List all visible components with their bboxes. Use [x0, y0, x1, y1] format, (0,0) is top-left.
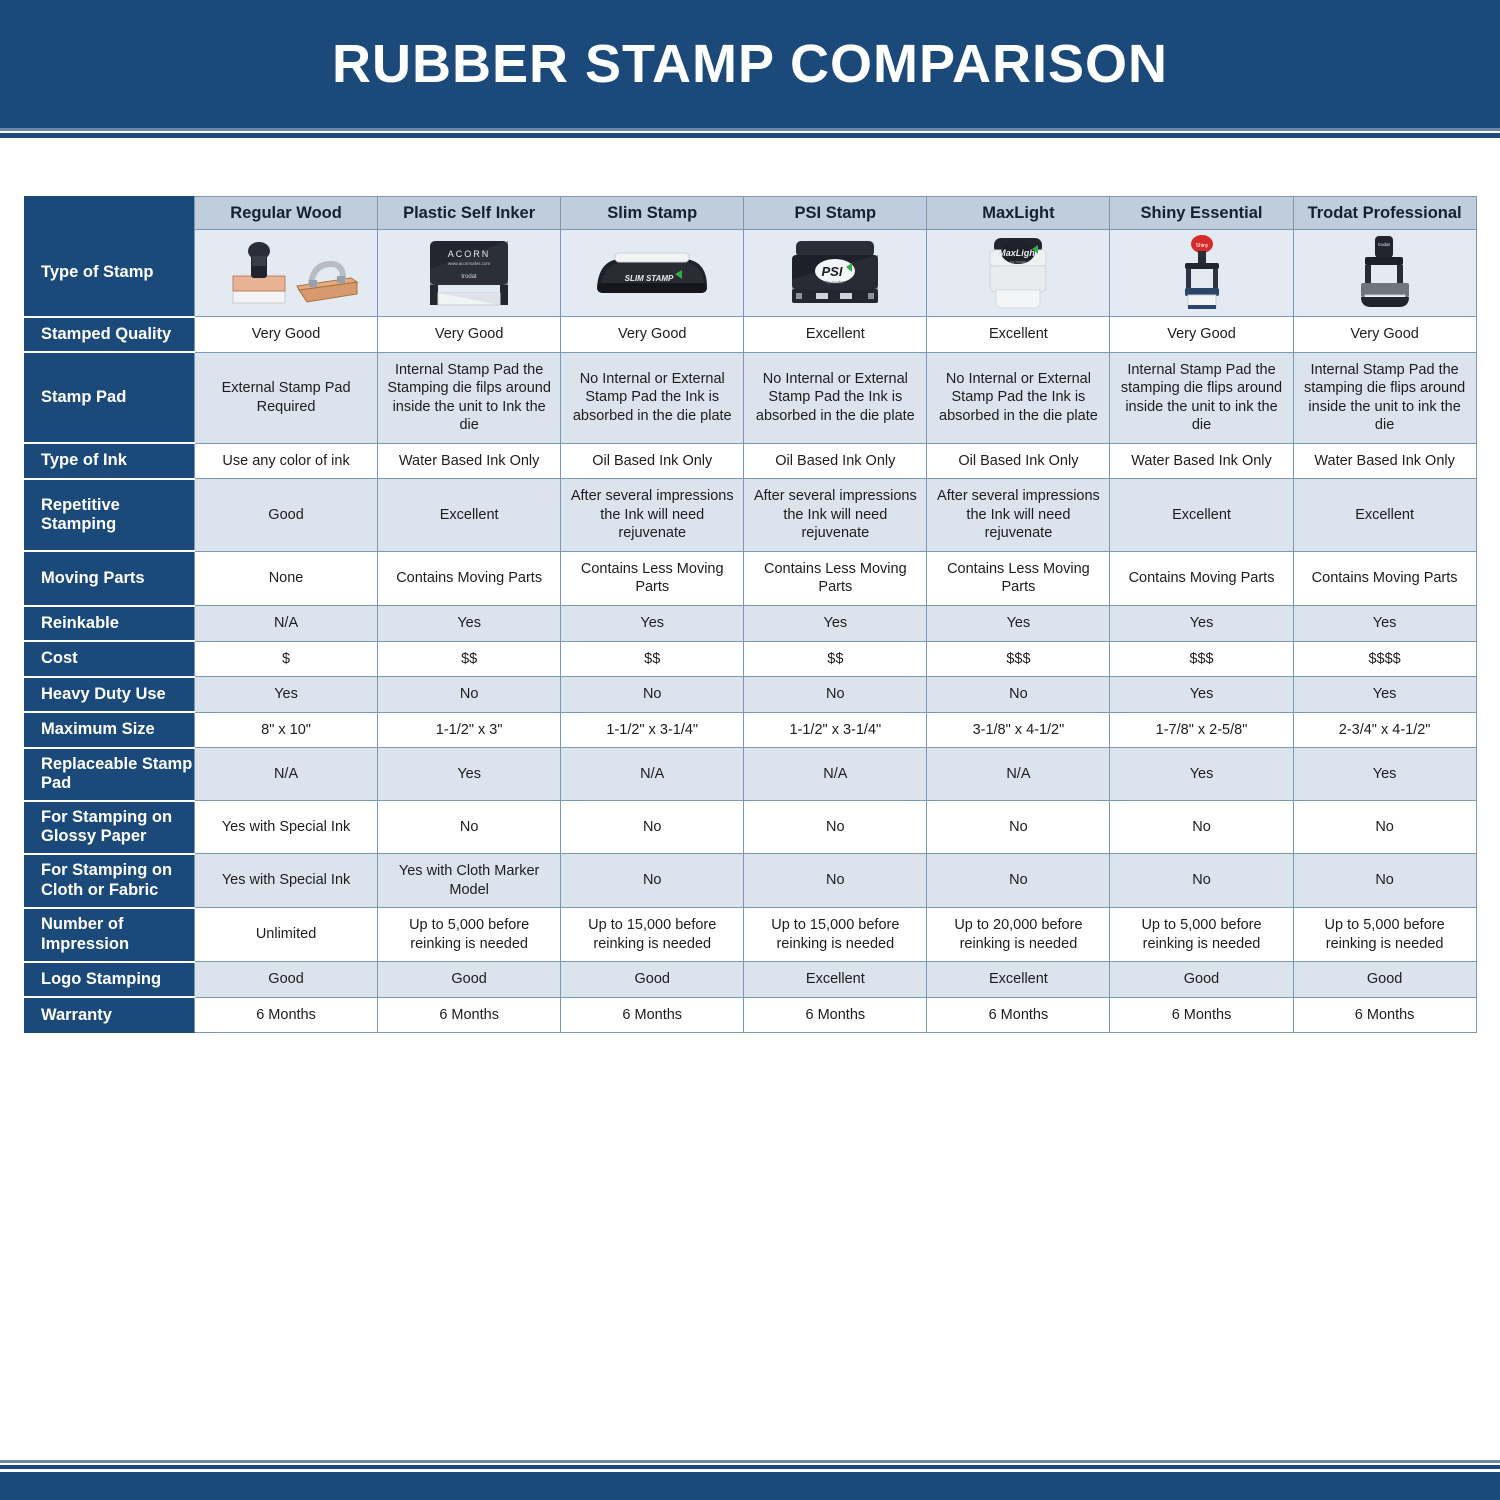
svg-text:by trodat: by trodat: [1011, 259, 1027, 264]
table-cell: Up to 20,000 before reinking is needed: [927, 908, 1110, 962]
table-row: Heavy Duty UseYesNoNoNoNoYesYes: [25, 677, 1477, 713]
header-divider-dark: [0, 133, 1500, 138]
table-row-type-of-stamp: Type of Stamp ACORN www.acornsales.com t…: [25, 230, 1477, 317]
psi-stamp-image: PSI by trodat: [782, 235, 888, 311]
row-label-heavy-duty-use: Heavy Duty Use: [25, 677, 195, 713]
table-cell: Contains Moving Parts: [1293, 551, 1476, 605]
table-cell: Oil Based Ink Only: [561, 443, 744, 479]
row-label-logo-stamping: Logo Stamping: [25, 962, 195, 998]
table-cell: No: [927, 801, 1110, 854]
table-row: Replaceable Stamp PadN/AYesN/AN/AN/AYesY…: [25, 748, 1477, 801]
table-cell: Water Based Ink Only: [1110, 443, 1293, 479]
column-header-2: Plastic Self Inker: [378, 197, 561, 230]
table-cell: No: [744, 854, 927, 908]
table-cell: $: [195, 641, 378, 677]
table-cell: Good: [561, 962, 744, 998]
table-cell: Good: [195, 962, 378, 998]
table-corner-cell: [25, 197, 195, 230]
table-cell: Contains Moving Parts: [378, 551, 561, 605]
table-cell: Water Based Ink Only: [1293, 443, 1476, 479]
table-cell: 6 Months: [561, 997, 744, 1033]
page-footer-banner: [0, 1472, 1500, 1500]
row-label-for-stamping-on-glossy-paper: For Stamping on Glossy Paper: [25, 801, 195, 854]
column-header-5: MaxLight: [927, 197, 1110, 230]
table-cell: Yes with Cloth Marker Model: [378, 854, 561, 908]
column-header-6: Shiny Essential: [1110, 197, 1293, 230]
table-cell: Yes: [195, 677, 378, 713]
table-cell: Yes: [378, 748, 561, 801]
table-cell: Internal Stamp Pad the Stamping die filp…: [378, 352, 561, 443]
table-cell: Contains Moving Parts: [1110, 551, 1293, 605]
table-row: Stamp PadExternal Stamp Pad RequiredInte…: [25, 352, 1477, 443]
table-cell: Up to 5,000 before reinking is needed: [378, 908, 561, 962]
table-cell: Excellent: [927, 962, 1110, 998]
table-cell: $$$$: [1293, 641, 1476, 677]
table-row: Stamped QualityVery GoodVery GoodVery Go…: [25, 317, 1477, 353]
table-row: ReinkableN/AYesYesYesYesYesYes: [25, 606, 1477, 642]
table-cell: 3-1/8" x 4-1/2": [927, 712, 1110, 748]
table-cell: 1-7/8" x 2-5/8": [1110, 712, 1293, 748]
table-cell: Good: [1110, 962, 1293, 998]
table-row: For Stamping on Glossy PaperYes with Spe…: [25, 801, 1477, 854]
svg-text:SLIM STAMP: SLIM STAMP: [625, 274, 674, 283]
table-cell: After several impressions the Ink will n…: [744, 479, 927, 552]
table-cell: Very Good: [378, 317, 561, 353]
table-cell: No: [927, 677, 1110, 713]
table-cell: Internal Stamp Pad the stamping die flip…: [1110, 352, 1293, 443]
table-cell: After several impressions the Ink will n…: [927, 479, 1110, 552]
row-label-maximum-size: Maximum Size: [25, 712, 195, 748]
table-cell: Good: [1293, 962, 1476, 998]
row-label-stamped-quality: Stamped Quality: [25, 317, 195, 353]
table-cell: Up to 5,000 before reinking is needed: [1293, 908, 1476, 962]
table-cell: 6 Months: [1110, 997, 1293, 1033]
column-header-3: Slim Stamp: [561, 197, 744, 230]
comparison-table-container: Regular WoodPlastic Self InkerSlim Stamp…: [24, 196, 1476, 1033]
table-cell: Contains Less Moving Parts: [927, 551, 1110, 605]
table-cell: $$: [561, 641, 744, 677]
rubber-stamp-comparison-table: Regular WoodPlastic Self InkerSlim Stamp…: [24, 196, 1477, 1033]
table-cell: No: [1293, 801, 1476, 854]
svg-text:trodat: trodat: [1378, 242, 1390, 247]
row-label-number-of-impression: Number of Impression: [25, 908, 195, 962]
table-cell: After several impressions the Ink will n…: [561, 479, 744, 552]
table-column-header-row: Regular WoodPlastic Self InkerSlim Stamp…: [25, 197, 1477, 230]
table-cell: Unlimited: [195, 908, 378, 962]
table-cell: 2-3/4" x 4-1/2": [1293, 712, 1476, 748]
table-cell: Yes: [378, 606, 561, 642]
header-divider-light: [0, 128, 1500, 131]
table-cell: External Stamp Pad Required: [195, 352, 378, 443]
table-cell: 1-1/2" x 3": [378, 712, 561, 748]
table-cell: Very Good: [195, 317, 378, 353]
table-cell: No Internal or External Stamp Pad the In…: [744, 352, 927, 443]
table-cell: Good: [378, 962, 561, 998]
footer-divider-light: [0, 1460, 1500, 1463]
table-cell: Up to 5,000 before reinking is needed: [1110, 908, 1293, 962]
footer-divider-dark: [0, 1465, 1500, 1469]
table-cell: Yes: [927, 606, 1110, 642]
table-cell: N/A: [195, 748, 378, 801]
svg-text:www.acornsales.com: www.acornsales.com: [448, 261, 491, 266]
table-cell: No Internal or External Stamp Pad the In…: [927, 352, 1110, 443]
table-cell: Very Good: [1293, 317, 1476, 353]
table-cell: $$$: [927, 641, 1110, 677]
table-cell: No: [927, 854, 1110, 908]
table-cell: Water Based Ink Only: [378, 443, 561, 479]
table-cell: Yes with Special Ink: [195, 854, 378, 908]
table-cell: $$: [744, 641, 927, 677]
table-row: Cost$$$$$$$$$$$$$$$$$: [25, 641, 1477, 677]
table-cell: Excellent: [378, 479, 561, 552]
table-cell: None: [195, 551, 378, 605]
table-cell: N/A: [561, 748, 744, 801]
product-image-cell-3: SLIM STAMP: [561, 230, 744, 317]
product-image-cell-1: [195, 230, 378, 317]
table-row: Maximum Size8" x 10"1-1/2" x 3"1-1/2" x …: [25, 712, 1477, 748]
psi-stamp-image: PSI by trodat: [746, 235, 924, 311]
table-row: Moving PartsNoneContains Moving PartsCon…: [25, 551, 1477, 605]
table-cell: Yes: [1293, 677, 1476, 713]
table-cell: $$: [378, 641, 561, 677]
table-cell: Excellent: [1293, 479, 1476, 552]
table-cell: Excellent: [744, 962, 927, 998]
row-label-warranty: Warranty: [25, 997, 195, 1033]
table-cell: Oil Based Ink Only: [744, 443, 927, 479]
svg-text:PSI: PSI: [822, 264, 843, 279]
plastic-self-inker-stamp-image: ACORN www.acornsales.com trodat: [380, 235, 558, 311]
table-cell: No: [561, 801, 744, 854]
table-cell: Excellent: [1110, 479, 1293, 552]
table-row: Number of ImpressionUnlimitedUp to 5,000…: [25, 908, 1477, 962]
svg-text:trodat: trodat: [461, 274, 477, 280]
trodat-professional-stamp-image: trodat: [1296, 233, 1474, 313]
table-cell: 6 Months: [1293, 997, 1476, 1033]
slim-stamp-image: SLIM STAMP: [563, 243, 741, 303]
table-cell: Up to 15,000 before reinking is needed: [561, 908, 744, 962]
table-cell: Contains Less Moving Parts: [561, 551, 744, 605]
slim-stamp-image: SLIM STAMP: [587, 243, 717, 303]
table-cell: Excellent: [744, 317, 927, 353]
table-cell: Up to 15,000 before reinking is needed: [744, 908, 927, 962]
table-cell: No: [378, 801, 561, 854]
column-header-4: PSI Stamp: [744, 197, 927, 230]
table-cell: No: [1110, 801, 1293, 854]
table-cell: Yes: [561, 606, 744, 642]
table-cell: Use any color of ink: [195, 443, 378, 479]
table-cell: No Internal or External Stamp Pad the In…: [561, 352, 744, 443]
trodat-professional-stamp-image: trodat: [1343, 233, 1427, 313]
table-cell: N/A: [927, 748, 1110, 801]
svg-text:by trodat: by trodat: [827, 280, 845, 285]
product-image-cell-7: trodat: [1293, 230, 1476, 317]
regular-wood-stamp-image: [197, 236, 375, 310]
table-cell: Yes with Special Ink: [195, 801, 378, 854]
table-cell: Contains Less Moving Parts: [744, 551, 927, 605]
table-row: Type of InkUse any color of inkWater Bas…: [25, 443, 1477, 479]
table-cell: No: [378, 677, 561, 713]
table-cell: N/A: [195, 606, 378, 642]
table-cell: Yes: [1110, 748, 1293, 801]
product-image-cell-4: PSI by trodat: [744, 230, 927, 317]
row-label-type-of-stamp: Type of Stamp: [25, 230, 195, 317]
table-cell: $$$: [1110, 641, 1293, 677]
table-cell: Yes: [1293, 606, 1476, 642]
table-cell: No: [561, 854, 744, 908]
row-label-replaceable-stamp-pad: Replaceable Stamp Pad: [25, 748, 195, 801]
column-header-7: Trodat Professional: [1293, 197, 1476, 230]
page-title: RUBBER STAMP COMPARISON: [332, 33, 1168, 95]
row-label-reinkable: Reinkable: [25, 606, 195, 642]
table-cell: Yes: [744, 606, 927, 642]
table-cell: 6 Months: [927, 997, 1110, 1033]
row-label-repetitive-stamping: Repetitive Stamping: [25, 479, 195, 552]
page-header-banner: RUBBER STAMP COMPARISON: [0, 0, 1500, 128]
shiny-essential-stamp-image: Shiny: [1167, 233, 1237, 313]
product-image-cell-5: MaxLight by trodat: [927, 230, 1110, 317]
table-cell: No: [744, 677, 927, 713]
table-cell: 6 Months: [195, 997, 378, 1033]
plastic-self-inker-stamp-image: ACORN www.acornsales.com trodat: [414, 235, 524, 311]
table-cell: Oil Based Ink Only: [927, 443, 1110, 479]
table-cell: Yes: [1110, 677, 1293, 713]
table-cell: Internal Stamp Pad the stamping die flip…: [1293, 352, 1476, 443]
product-image-cell-2: ACORN www.acornsales.com trodat: [378, 230, 561, 317]
table-cell: 6 Months: [378, 997, 561, 1033]
table-cell: No: [1293, 854, 1476, 908]
table-cell: N/A: [744, 748, 927, 801]
svg-text:Shiny: Shiny: [1195, 243, 1208, 249]
row-label-type-of-ink: Type of Ink: [25, 443, 195, 479]
table-cell: 8" x 10": [195, 712, 378, 748]
table-cell: Yes: [1110, 606, 1293, 642]
table-cell: Excellent: [927, 317, 1110, 353]
table-cell: No: [561, 677, 744, 713]
row-label-moving-parts: Moving Parts: [25, 551, 195, 605]
table-row: Warranty6 Months6 Months6 Months6 Months…: [25, 997, 1477, 1033]
table-cell: 1-1/2" x 3-1/4": [561, 712, 744, 748]
row-label-for-stamping-on-cloth-or-fabric: For Stamping on Cloth or Fabric: [25, 854, 195, 908]
column-header-1: Regular Wood: [195, 197, 378, 230]
table-cell: No: [1110, 854, 1293, 908]
product-image-cell-6: Shiny: [1110, 230, 1293, 317]
maxlight-stamp-image: MaxLight by trodat: [972, 234, 1064, 312]
table-row: For Stamping on Cloth or FabricYes with …: [25, 854, 1477, 908]
table-cell: 6 Months: [744, 997, 927, 1033]
table-cell: Very Good: [561, 317, 744, 353]
regular-wood-stamp-image: [211, 236, 361, 310]
svg-text:ACORN: ACORN: [448, 249, 491, 259]
shiny-essential-stamp-image: Shiny: [1112, 233, 1290, 313]
table-cell: Good: [195, 479, 378, 552]
table-cell: No: [744, 801, 927, 854]
table-row: Repetitive StampingGoodExcellentAfter se…: [25, 479, 1477, 552]
row-label-stamp-pad: Stamp Pad: [25, 352, 195, 443]
table-row: Logo StampingGoodGoodGoodExcellentExcell…: [25, 962, 1477, 998]
table-cell: Yes: [1293, 748, 1476, 801]
table-cell: Very Good: [1110, 317, 1293, 353]
table-cell: 1-1/2" x 3-1/4": [744, 712, 927, 748]
maxlight-stamp-image: MaxLight by trodat: [929, 234, 1107, 312]
row-label-cost: Cost: [25, 641, 195, 677]
